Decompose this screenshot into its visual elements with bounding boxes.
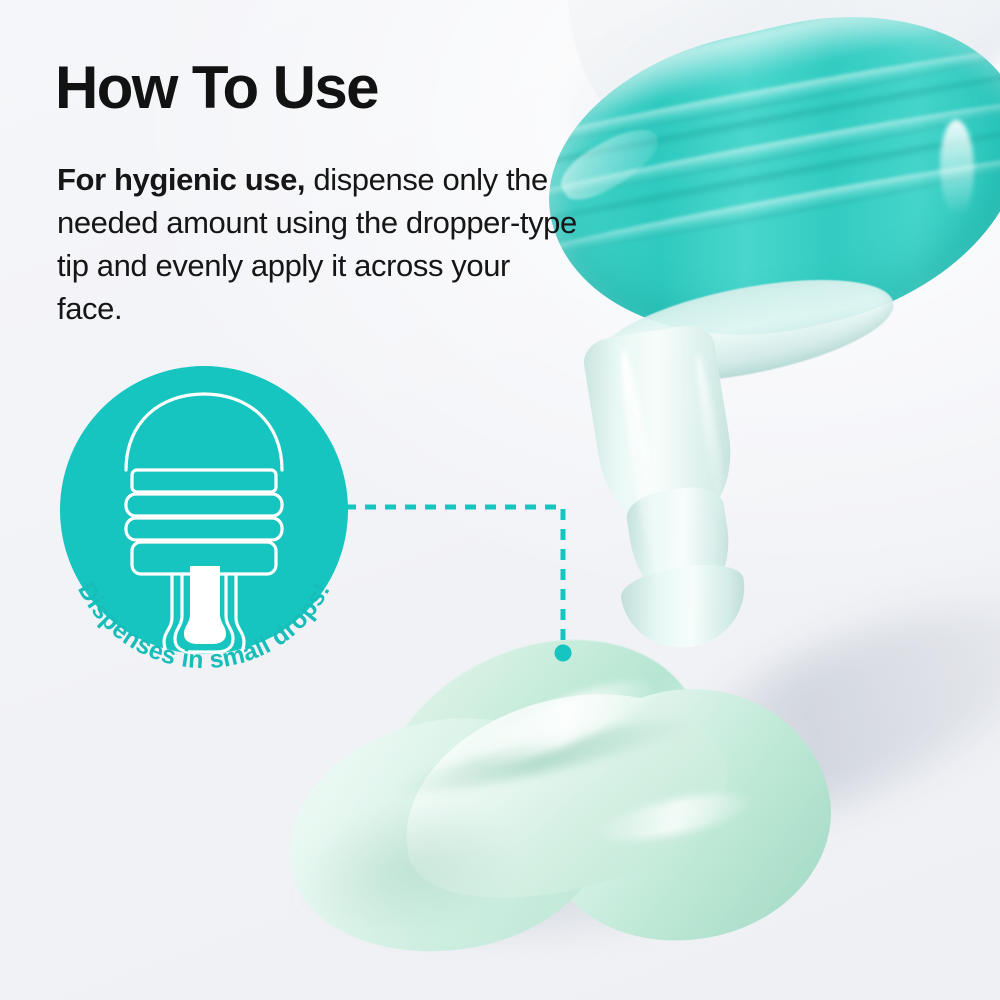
instruction-paragraph: For hygienic use, dispense only the need…	[57, 158, 577, 330]
callout-connector	[340, 495, 580, 675]
instruction-lead-in: For hygienic use,	[57, 162, 305, 197]
page-title: How To Use	[55, 56, 378, 120]
how-to-use-infographic: How To Use For hygienic use, dispense on…	[0, 0, 1000, 1000]
badge-caption: Dispenses in small drops!	[46, 352, 362, 668]
connector-dashed-line	[345, 507, 563, 645]
dispenses-in-small-drops-badge: Dispenses in small drops!	[60, 366, 348, 654]
connector-endpoint-dot	[555, 645, 572, 662]
badge-caption-text: Dispenses in small drops!	[72, 578, 336, 675]
